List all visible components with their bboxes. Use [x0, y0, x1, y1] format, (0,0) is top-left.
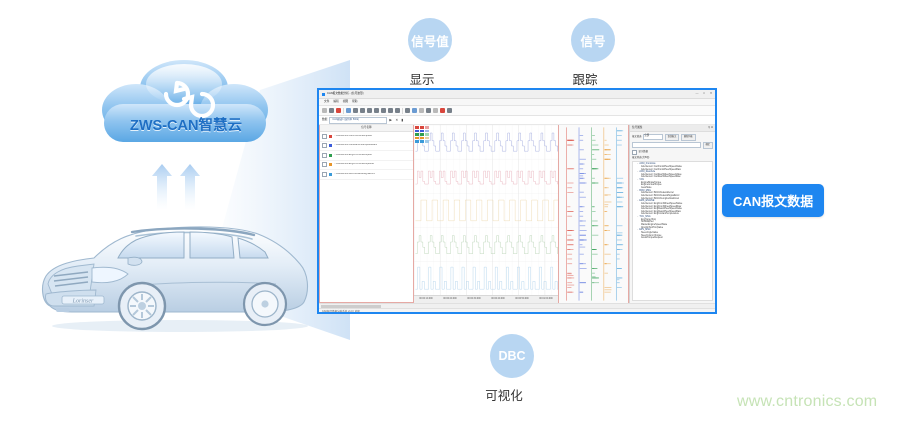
- section-label: 报文列表(共5项): [632, 157, 649, 160]
- app-icon: [322, 93, 325, 96]
- callout-caption: 可视化: [482, 385, 526, 404]
- track-value-label: [592, 276, 595, 277]
- track-value-label: [580, 149, 584, 150]
- legend-swatch: [415, 130, 419, 133]
- track-value-label: [605, 178, 611, 179]
- track-value-label: [592, 183, 595, 184]
- legend-swatch: [420, 140, 424, 143]
- track-value-label: [567, 206, 570, 207]
- toolbar-separator: [343, 108, 344, 114]
- grid-icon[interactable]: [346, 108, 351, 113]
- list-item[interactable]: ...AxleSensor/CarFrontWheelSpeed: [320, 132, 413, 142]
- track-value-label: [617, 178, 623, 179]
- minimize-button[interactable]: —: [695, 91, 699, 95]
- x-tick: 00:00:50.000: [515, 298, 528, 301]
- record-icon[interactable]: [336, 108, 341, 113]
- suv-car-illustration: Lorinser: [32, 214, 317, 332]
- show-data-label: 显示数据: [639, 151, 649, 154]
- track-value-label: [567, 277, 571, 278]
- menu-view[interactable]: 视图: [343, 100, 348, 103]
- track-value-label: [617, 268, 622, 269]
- track-value-label: [617, 282, 620, 283]
- color-swatch: [329, 163, 332, 166]
- refresh-button[interactable]: 刷新列表: [681, 134, 696, 141]
- track-value-label: [592, 211, 595, 212]
- legend-swatch: [415, 126, 419, 129]
- track-value-label: [567, 254, 572, 255]
- track-value-label: [605, 159, 611, 160]
- tree-twisty-icon[interactable]: −: [637, 171, 638, 174]
- track-value-label: [592, 268, 597, 269]
- list-item[interactable]: ...AxleSensor/EngFrontWheelSpeedA: [320, 161, 413, 171]
- callout-badge: DBC: [490, 334, 534, 378]
- track-value-label: [605, 140, 607, 141]
- legend-swatch: [425, 133, 429, 136]
- track-value-label: [580, 292, 583, 293]
- track-value-label: [567, 192, 573, 193]
- pin-icon[interactable]: ⚲: [708, 126, 710, 129]
- track-value-label: [605, 263, 611, 264]
- color-swatch: [329, 135, 332, 138]
- list-item[interactable]: ...AxleSensor/BrkCtrlLateralSignalRPM: [320, 170, 413, 180]
- track-value-label: [605, 287, 612, 288]
- track-value-label: [580, 183, 587, 184]
- close-icon[interactable]: ✕: [711, 126, 713, 129]
- trash-icon[interactable]: ▮: [401, 118, 405, 123]
- track-value-label: [605, 292, 611, 293]
- checkbox-icon[interactable]: [632, 150, 637, 155]
- tree-node-label: AxleSensor::CarRearWheelSpeedRaw: [641, 176, 680, 179]
- waveform-trace: [415, 200, 558, 221]
- track-value-label: [580, 140, 583, 141]
- svg-text:Lorinser: Lorinser: [72, 299, 94, 305]
- chart6-icon[interactable]: [388, 108, 393, 113]
- track-value-label: [592, 145, 598, 146]
- double-up-arrow-icon: [148, 160, 218, 212]
- menu-help[interactable]: 帮助: [352, 100, 357, 103]
- track-value-label: [580, 197, 586, 198]
- track-value-label: [617, 254, 620, 255]
- panel-title-bar: 信号属性 ⚲ ✕: [630, 125, 715, 132]
- cloud-label: ZWS-CAN智慧云: [96, 114, 276, 135]
- track-value-label: [592, 206, 594, 207]
- track-value-label: [617, 206, 623, 207]
- legend-swatch: [420, 137, 424, 140]
- waveform-trace: [415, 236, 558, 254]
- track-value-label: [567, 145, 573, 146]
- track-value-label: [617, 192, 623, 193]
- track-value-label: [567, 240, 573, 241]
- track-value-label: [580, 240, 583, 241]
- track-value-label: [567, 140, 572, 141]
- track-value-label: [617, 183, 622, 184]
- track-value-label: [567, 273, 571, 274]
- signal-property-panel: 信号属性 ⚲ ✕ 报文筛选 全部 查找报文 刷新列表 确定: [629, 125, 715, 303]
- track-value-label: [580, 263, 583, 264]
- track-value-label: [592, 277, 599, 278]
- signal-name: ...AxleSensor/CarFrontWheelSpeed: [334, 135, 372, 138]
- track-value-label: [605, 202, 612, 203]
- track-value-label: [605, 289, 612, 290]
- track-value-label: [567, 285, 574, 286]
- signal-list-header: 信号名称: [320, 125, 413, 132]
- checkbox-icon[interactable]: [322, 153, 327, 158]
- track-value-label: [592, 225, 598, 226]
- legend-swatch: [415, 137, 419, 140]
- track-value-label: [580, 244, 583, 245]
- track-value-label: [580, 135, 583, 136]
- tree-twisty-icon[interactable]: −: [637, 190, 638, 193]
- track-value-label: [592, 254, 598, 255]
- chart4-icon[interactable]: [374, 108, 379, 113]
- track-value-label: [617, 135, 622, 136]
- track-value-label: [617, 187, 623, 188]
- track-value-label: [567, 187, 572, 188]
- track-value-label: [617, 140, 622, 141]
- callout-signal-track: 信号 跟踪: [571, 18, 615, 88]
- x-tick: 00:00:30.000: [467, 298, 480, 301]
- legend-swatch: [415, 133, 419, 136]
- track-value-label: [617, 244, 623, 245]
- track-value-label: [617, 232, 623, 233]
- waveform-trace: [415, 171, 558, 184]
- track-value-label: [592, 282, 599, 283]
- callout-dbc: DBC 可视化: [490, 334, 534, 404]
- chart-legend: [415, 126, 429, 143]
- legend-swatch: [420, 126, 424, 129]
- play-icon[interactable]: ▶: [389, 118, 393, 123]
- track-value-label: [605, 254, 611, 255]
- track-value-label: [617, 240, 622, 241]
- track-value-label: [580, 225, 586, 226]
- legend-swatch: [415, 140, 419, 143]
- track-value-label: [592, 135, 595, 136]
- track-value-label: [567, 168, 573, 169]
- panel-title: 信号属性: [632, 127, 642, 130]
- track-value-label: [580, 168, 583, 169]
- chart5-icon[interactable]: [381, 108, 386, 113]
- track-value-label: [617, 235, 620, 236]
- track-value-label: [592, 168, 597, 169]
- color-swatch: [329, 154, 332, 157]
- tree-controls: 报文筛选 全部 查找报文 刷新列表 确定 显示数据 报文列表(共5项): [630, 132, 715, 161]
- track-value-label: [605, 194, 611, 195]
- x-tick: 00:01:00.000: [539, 298, 552, 301]
- section-row: 报文列表(共5项): [632, 157, 713, 160]
- settings-icon[interactable]: [447, 108, 452, 113]
- toolbar-separator: [402, 108, 403, 114]
- track-value-label: [580, 178, 583, 179]
- track-value-label: [592, 249, 596, 250]
- legend-swatch: [425, 137, 429, 140]
- track-value-label: [567, 263, 572, 264]
- open-icon[interactable]: [322, 108, 327, 113]
- message-tree[interactable]: −ACM_FrontAxleAxleSensor::CarFrontWheelS…: [632, 161, 713, 301]
- chart7-icon[interactable]: [395, 108, 400, 113]
- track-value-label: [605, 273, 608, 274]
- callout-signal-value: 信号值 显示: [408, 18, 452, 88]
- cloud-shape: [96, 58, 276, 158]
- track-value-label: [580, 254, 584, 255]
- track-value-label: [592, 221, 598, 222]
- can-message-data-badge: CAN报文数据: [722, 184, 824, 217]
- track-value-label: [592, 273, 595, 274]
- chart-x-axis: 00:00:10.000 00:00:20.000 00:00:30.000 0…: [414, 295, 558, 303]
- checkbox-icon[interactable]: [322, 143, 327, 148]
- tree-twisty-icon[interactable]: −: [637, 163, 638, 166]
- checkbox-icon[interactable]: [322, 162, 327, 167]
- list-item[interactable]: ...AxleSensor/CarRearWheelSpeedBack: [320, 142, 413, 152]
- filter-label: 数据: [322, 118, 327, 121]
- channel-select[interactable]: CAN通道1 (波特率 500k): [329, 117, 387, 124]
- track-value-label: [617, 279, 619, 280]
- track-value-label: [605, 204, 609, 205]
- track-value-label: [605, 154, 611, 155]
- track-value-label: [580, 175, 583, 176]
- track-value-label: [580, 159, 586, 160]
- track-value-label: [567, 287, 571, 288]
- search-label: 报文筛选: [632, 136, 642, 139]
- window-titlebar: CAN报文数据分析 - [信号波形] — □ ✕: [319, 90, 715, 99]
- track-value-label: [567, 216, 572, 217]
- waveform-trace: [415, 133, 558, 151]
- track-value-label: [605, 211, 607, 212]
- track-value-label: [617, 249, 620, 250]
- tree-twisty-icon[interactable]: −: [637, 179, 638, 182]
- can-analysis-app-window: CAN报文数据分析 - [信号波形] — □ ✕ 文件 编辑 视图 帮助: [317, 88, 717, 314]
- track-value-label: [592, 140, 595, 141]
- print-icon[interactable]: [440, 108, 445, 113]
- tree-twisty-icon[interactable]: −: [637, 200, 638, 203]
- track-value-label: [617, 130, 622, 131]
- track-value-label: [580, 164, 583, 165]
- window-controls: — □ ✕: [695, 91, 713, 95]
- toolbar: [319, 106, 715, 116]
- color-swatch: [329, 144, 332, 147]
- track-value-label: [580, 211, 583, 212]
- search-button[interactable]: 查找报文: [665, 134, 680, 141]
- track-value-label: [567, 292, 572, 293]
- window-title: CAN报文数据分析 - [信号波形]: [327, 92, 363, 95]
- signal-list-panel: 信号名称 ...AxleSensor/CarFrontWheelSpeed ..…: [319, 125, 414, 303]
- close-button[interactable]: ✕: [709, 91, 713, 95]
- signal-name: ...AxleSensor/EngFrontWheelSpeedA: [334, 163, 374, 166]
- measure-icon[interactable]: [426, 108, 431, 113]
- filter-row: 报文筛选 全部 查找报文 刷新列表: [632, 134, 713, 141]
- scrollbar-thumb[interactable]: [321, 305, 381, 308]
- track-value-label: [605, 225, 609, 226]
- track-value-label: [605, 230, 607, 231]
- go-button[interactable]: 确定: [703, 142, 713, 149]
- chart-canvas: [414, 125, 558, 303]
- callout-caption: 跟踪: [563, 69, 607, 88]
- menu-file[interactable]: 文件: [324, 100, 329, 103]
- legend-swatch: [420, 133, 424, 136]
- track-value-label: [567, 259, 572, 260]
- legend-swatch: [425, 140, 429, 143]
- x-tick: 00:00:10.000: [419, 298, 432, 301]
- track-value-label: [617, 287, 622, 288]
- tree-node-label: AssistTorqueRequest: [641, 237, 663, 240]
- checkbox-icon[interactable]: [322, 134, 327, 139]
- checkbox-icon[interactable]: [322, 172, 327, 177]
- track-value-label: [617, 277, 623, 278]
- maximize-button[interactable]: □: [702, 91, 706, 95]
- track-value-label: [580, 216, 583, 217]
- site-watermark: www.cntronics.com: [737, 393, 877, 411]
- tree-twisty-icon[interactable]: −: [637, 216, 638, 219]
- track-value-label: [605, 206, 608, 207]
- chart3-icon[interactable]: [367, 108, 372, 113]
- signal-name: ...AxleSensor/CarRearWheelSpeedBack: [334, 144, 377, 147]
- track-value-label: [617, 225, 623, 226]
- list-item[interactable]: ...AxleSensor/EngFrontWheelSpeed: [320, 151, 413, 161]
- waveform-chart[interactable]: 00:00:10.000 00:00:20.000 00:00:30.000 0…: [414, 125, 559, 303]
- track-value-label: [567, 235, 571, 236]
- signal-name: ...AxleSensor/EngFrontWheelSpeed: [334, 154, 372, 157]
- tree-twisty-icon[interactable]: −: [637, 229, 638, 232]
- track-value-label: [605, 244, 609, 245]
- zoom-out-icon[interactable]: [412, 108, 417, 113]
- menu-edit[interactable]: 编辑: [333, 100, 338, 103]
- panel-icons: ⚲ ✕: [708, 127, 713, 130]
- track-value-label: [567, 183, 573, 184]
- track-value-label: [580, 268, 587, 269]
- tree-leaf[interactable]: AssistTorqueRequest: [635, 237, 710, 240]
- chart2-icon[interactable]: [360, 108, 365, 113]
- track-value-label: [567, 211, 573, 212]
- cloud-logo: ZWS-CAN智慧云: [96, 58, 276, 158]
- show-data-row[interactable]: 显示数据: [632, 150, 713, 155]
- track-value-label: [617, 259, 620, 260]
- track-value-label: [617, 197, 622, 198]
- track-value-label: [592, 178, 595, 179]
- scope-select[interactable]: 全部: [643, 134, 663, 140]
- app-body: 信号名称 ...AxleSensor/CarFrontWheelSpeed ..…: [319, 125, 715, 303]
- track-value-label: [617, 202, 623, 203]
- cursor-icon[interactable]: [419, 108, 424, 113]
- track-value-label: [592, 149, 599, 150]
- track-value-label: [580, 235, 586, 236]
- callout-caption: 显示: [400, 69, 444, 88]
- export-icon[interactable]: [433, 108, 438, 113]
- track-value-label: [580, 173, 586, 174]
- signal-track-panel[interactable]: [559, 125, 629, 303]
- track-value-label: [567, 249, 570, 250]
- track-value-label: [580, 282, 586, 283]
- legend-swatch: [420, 130, 424, 133]
- track-value-label: [580, 192, 584, 193]
- zoom-in-icon[interactable]: [405, 108, 410, 113]
- waveform-trace: [415, 267, 558, 289]
- color-swatch: [329, 173, 332, 176]
- track-value-label: [617, 145, 622, 146]
- stop-icon[interactable]: ✕: [395, 118, 399, 123]
- track-value-label: [605, 149, 611, 150]
- track-value-label: [580, 247, 586, 248]
- track-value-label: [580, 221, 583, 222]
- track-value-label: [592, 235, 598, 236]
- track-value-label: [592, 159, 596, 160]
- search-input[interactable]: [632, 142, 701, 148]
- track-value-label: [567, 230, 574, 231]
- track-value-label: [567, 275, 573, 276]
- x-tick: 00:00:20.000: [443, 298, 456, 301]
- legend-swatch: [425, 126, 429, 129]
- legend-swatch: [425, 130, 429, 133]
- menubar: 文件 编辑 视图 帮助: [319, 99, 715, 106]
- track-canvas: [559, 125, 628, 303]
- track-value-label: [567, 244, 573, 245]
- track-value-label: [580, 206, 585, 207]
- filter-bar: 数据 CAN通道1 (波特率 500k) ▶ ✕ ▮: [319, 116, 715, 125]
- track-value-label: [605, 187, 609, 188]
- x-tick: 00:00:40.000: [491, 298, 504, 301]
- track-value-label: [567, 282, 572, 283]
- track-value-label: [580, 230, 587, 231]
- callout-badge: 信号值: [408, 18, 452, 62]
- signal-name: ...AxleSensor/BrkCtrlLateralSignalRPM: [334, 173, 375, 176]
- search-row: 确定: [632, 142, 713, 149]
- chart1-icon[interactable]: [353, 108, 358, 113]
- save-icon[interactable]: [329, 108, 334, 113]
- track-value-label: [605, 145, 609, 146]
- callout-badge: 信号: [571, 18, 615, 62]
- track-value-label: [592, 154, 594, 155]
- status-bar: CAN报文数据分析系统 v1.0 | 就绪: [319, 308, 715, 314]
